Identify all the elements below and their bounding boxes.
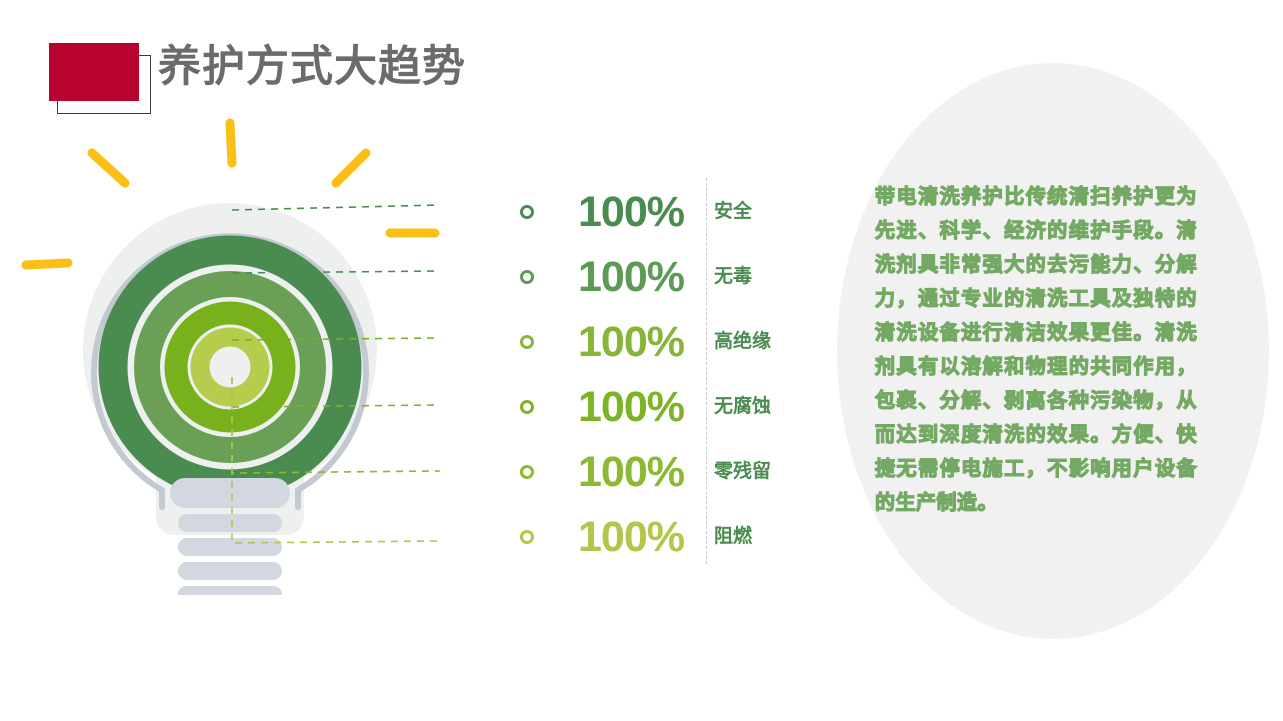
stat-label: 零残留	[698, 460, 771, 484]
stat-value: 100%	[546, 318, 698, 366]
stat-value: 100%	[546, 383, 698, 431]
title-red-accent	[49, 43, 139, 101]
stat-value: 100%	[546, 253, 698, 301]
ray-upper-right	[336, 153, 366, 183]
info-paragraph: 带电清洗养护比传统清扫养护更为先进、科学、经济的维护手段。清洗剂具非常强大的去污…	[875, 180, 1197, 520]
stat-marker-dot	[520, 465, 534, 479]
stats-list: 100%安全100%无毒100%高绝缘100%无腐蚀100%零残留100%阻燃	[520, 170, 830, 570]
stat-label: 无腐蚀	[698, 395, 771, 419]
stat-row: 100%安全	[520, 180, 830, 244]
ray-upper-left	[92, 153, 125, 183]
stat-row: 100%零残留	[520, 440, 830, 504]
stats-divider	[706, 178, 707, 564]
light-bulb-target-illustration	[10, 95, 440, 595]
stat-value: 100%	[546, 188, 698, 236]
stat-marker-dot	[520, 205, 534, 219]
stat-row: 100%高绝缘	[520, 310, 830, 374]
stat-marker-dot	[520, 530, 534, 544]
ray-top	[230, 123, 232, 163]
stat-value: 100%	[546, 448, 698, 496]
stat-label: 高绝缘	[698, 330, 771, 354]
stat-row: 100%无毒	[520, 245, 830, 309]
stat-row: 100%阻燃	[520, 505, 830, 569]
stat-marker-dot	[520, 400, 534, 414]
stat-marker-dot	[520, 335, 534, 349]
stat-marker-dot	[520, 270, 534, 284]
page-title: 养护方式大趋势	[158, 40, 466, 94]
ray-left	[26, 263, 68, 265]
stat-value: 100%	[546, 513, 698, 561]
bulb-base	[170, 478, 290, 595]
stat-row: 100%无腐蚀	[520, 375, 830, 439]
